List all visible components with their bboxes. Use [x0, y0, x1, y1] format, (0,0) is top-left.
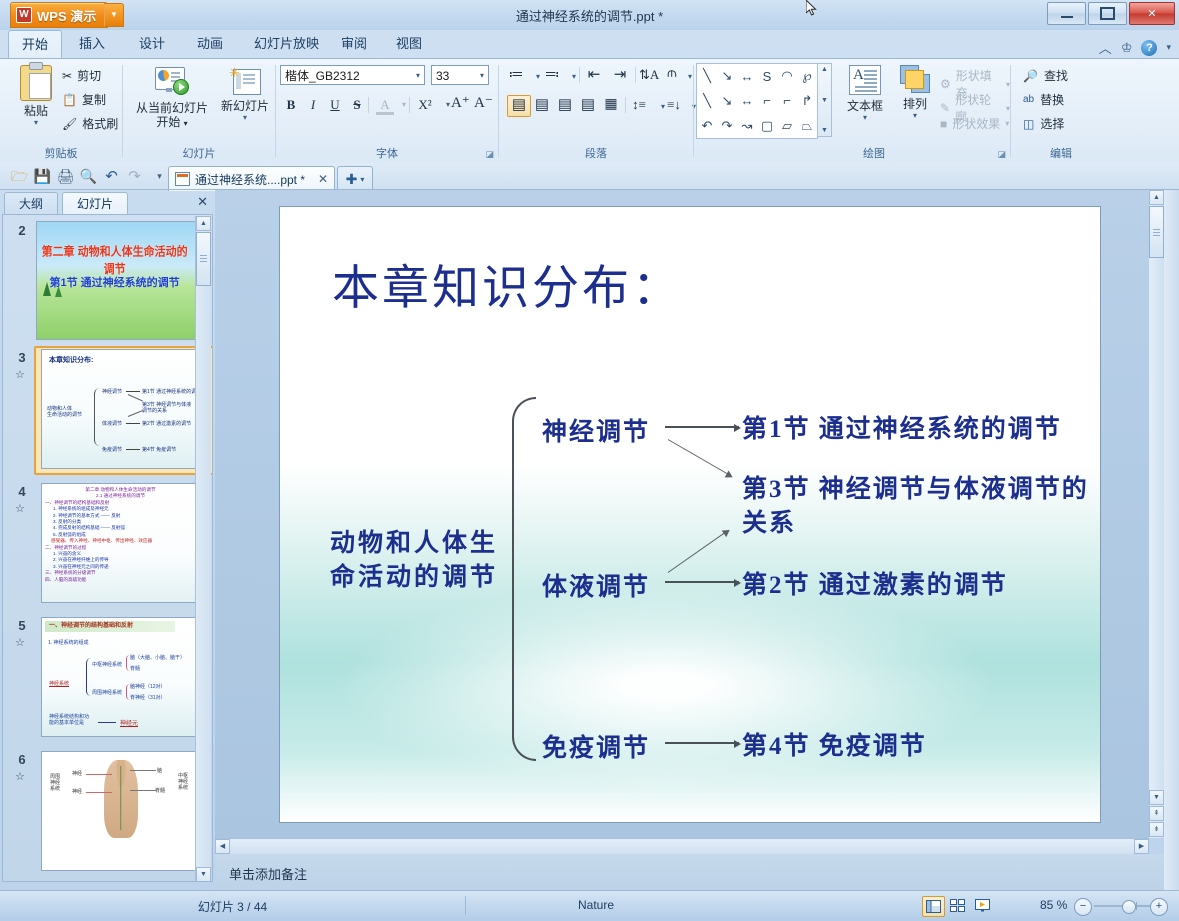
- undo-icon[interactable]: ↶: [102, 167, 121, 186]
- shape-gallery[interactable]: ╲ ↘ ↔ S ◠ ℘ ╲ ↘ ↔ ⌐ ⌐ ↱ ↶ ↷ ↝ ▢ ▱: [696, 63, 818, 139]
- redo-icon[interactable]: ↷: [125, 167, 144, 186]
- qat-more-icon[interactable]: ▾: [150, 167, 169, 186]
- thumbnail-image[interactable]: 一、神经调节的结构基础和反射 1. 神经系统的组成 神经系统 中枢神经系统 周围…: [41, 617, 200, 737]
- start-from-current-label2: 开始 ▾: [129, 115, 215, 131]
- shape-curved-arrow-icon[interactable]: ↝: [737, 113, 757, 138]
- ribbon: 粘贴 ▾ ✂ 剪切 📋 复制 🖌 格式刷 剪贴板: [0, 58, 1179, 165]
- zoom-tick: [1136, 902, 1137, 910]
- tab-outline[interactable]: 大纲: [4, 192, 58, 215]
- slide-vertical-scrollbar[interactable]: ▲ ▼ ⇞ ⇟: [1149, 190, 1164, 838]
- textbox-icon: A: [849, 65, 881, 95]
- arrange-label: 排列: [892, 97, 938, 111]
- shape-double-arrow2-icon[interactable]: ↔: [737, 89, 757, 114]
- slide-thumbnail-6[interactable]: 6 ☆ 神经 神经 周围神经系统 脑 脊髓: [9, 750, 209, 872]
- arrange-icon: [900, 65, 930, 93]
- scroll-down-button[interactable]: ▼: [196, 867, 211, 882]
- scrollbar-thumb[interactable]: [196, 232, 211, 286]
- slide-horizontal-scrollbar[interactable]: ◀ ▶: [215, 838, 1149, 855]
- select-pointer-icon: ◫: [1023, 117, 1034, 131]
- align-center-button[interactable]: ▤: [533, 95, 551, 115]
- thumb2-line2: 第1节 通过神经系统的调节: [41, 274, 188, 290]
- print-preview-icon[interactable]: 🔍: [79, 167, 98, 186]
- font-name-input[interactable]: 楷体_GB2312 ▾: [280, 65, 425, 85]
- ribbon-tab-view[interactable]: 视图: [385, 30, 433, 58]
- divider: [368, 97, 369, 113]
- ribbon-group-paragraph: ≔ ▾ ≕ ▾ ⇤ ⇥ ⇅A ⫙ ▾ ▤ ▤ ▤ ▤ ▦ ↕≡ ▾ ≡↓: [499, 59, 693, 163]
- slide-scroll-up-button[interactable]: ▲: [1149, 190, 1164, 205]
- shape-arrow-icon[interactable]: ↘: [717, 64, 737, 89]
- divider: [635, 67, 636, 83]
- t5-mid-2: 周围神经系统: [92, 689, 122, 696]
- text-direction-button[interactable]: ⇅A: [639, 65, 659, 85]
- open-icon[interactable]: 🗁: [10, 167, 29, 186]
- slide-sorter-icon: [950, 899, 965, 912]
- t5-left-label: 神经系统: [49, 680, 69, 687]
- thumbnail-number: 2: [9, 223, 35, 238]
- t6-label-brain: 脑: [157, 767, 162, 774]
- t6-label-left1: 神经: [72, 770, 82, 777]
- status-bar: 幻灯片 3 / 44 Nature 85 %: [0, 890, 1179, 921]
- shape-scroll-up-icon[interactable]: ▲: [821, 66, 828, 73]
- replace-ab-icon: ab: [1023, 94, 1034, 105]
- start-from-current-slide-button[interactable]: 从当前幻灯片 开始 ▾: [129, 67, 215, 131]
- shrink-font-button[interactable]: A⁻: [474, 93, 493, 113]
- shape-elbow2-icon[interactable]: ⌐: [777, 89, 797, 114]
- shape-curved-conn-icon[interactable]: ↶: [697, 113, 717, 138]
- replace-label: 替换: [1040, 91, 1064, 108]
- shape-effects-label: 形状效果: [952, 115, 1000, 132]
- animation-star-icon: ☆: [15, 636, 25, 649]
- animation-star-icon: ☆: [15, 368, 25, 381]
- grow-font-button[interactable]: A⁺: [451, 93, 470, 113]
- slides-pane: 大纲 幻灯片 ✕ 2 第二章 动物和人体生命活动的调节 第1节 通过神经系统的调…: [0, 190, 215, 890]
- outline-slide-preview: 第二章 动物和人体生命活动的调节 2.1 通过神经系统的调节 一、神经调节的结构…: [42, 484, 199, 602]
- copy-button[interactable]: 📋 复制: [62, 91, 106, 108]
- shape-line-icon[interactable]: ╲: [697, 64, 717, 89]
- view-slideshow-button[interactable]: [972, 896, 993, 915]
- group-label-drawing: 绘图: [814, 145, 934, 161]
- strikethrough-button[interactable]: S: [348, 95, 366, 115]
- shape-double-arrow-icon[interactable]: ↔: [737, 64, 757, 89]
- clipboard-icon: [20, 65, 52, 101]
- arrange-button[interactable]: 排列 ▾: [892, 65, 938, 120]
- start-from-current-label: 从当前幻灯片: [129, 101, 215, 115]
- thumb3-branch-3: 免疫调节: [102, 446, 122, 453]
- slides-pane-tabs: 大纲 幻灯片 ✕: [0, 190, 215, 214]
- scissors-icon: ✂: [62, 69, 72, 83]
- thumbnail-image[interactable]: 神经 神经 周围神经系统 脑 脊髓 中枢神经系统: [41, 751, 200, 871]
- shape-elbow-icon[interactable]: ⌐: [757, 89, 777, 114]
- slide-title-text[interactable]: 本章知识分布：: [332, 249, 682, 318]
- divider: [579, 67, 580, 83]
- superscript-button[interactable]: X²: [416, 95, 434, 115]
- slide-thumbnail-3[interactable]: 3 ☆ 本章知识分布: 动物和人体生命活动的调节 神经调节 第1节 通过神经系统…: [9, 348, 209, 470]
- align-text-button[interactable]: ⫙: [663, 64, 681, 84]
- divider: [625, 97, 626, 113]
- previous-slide-button[interactable]: ⇞: [1149, 806, 1164, 821]
- document-tab-label: 通过神经系统....ppt *: [195, 171, 305, 188]
- thumbnail-number: 5: [9, 618, 35, 633]
- select-button[interactable]: ◫ 选择: [1023, 115, 1064, 132]
- wps-presentation-window: W WPS 演示 ▼ 通过神经系统的调节.ppt * ✕ ︿ ♔ ? ▾ 开始 …: [0, 0, 1179, 920]
- t6-connector: [130, 790, 156, 791]
- thumb3-arrow-2: [126, 423, 140, 424]
- paste-caret-icon: ▾: [10, 118, 62, 127]
- presentation-file-icon: [175, 172, 190, 186]
- new-slide-icon: ✳: [229, 67, 261, 95]
- document-tab[interactable]: 通过神经系统....ppt * ✕: [168, 166, 335, 191]
- window-vertical-scrollbar[interactable]: [1164, 190, 1179, 890]
- group-label-slides: 幻灯片: [123, 145, 275, 161]
- window-controls: ✕: [1047, 2, 1175, 25]
- shape-parallelogram-icon[interactable]: ▱: [777, 113, 797, 138]
- slide-counter: 幻灯片 3 / 44: [0, 898, 465, 915]
- ribbon-group-slides: 从当前幻灯片 开始 ▾ ✳ 新幻灯片 ▾ 幻灯片: [123, 59, 275, 163]
- maximize-button[interactable]: [1088, 2, 1127, 25]
- root-line1: 动物和人体生: [330, 530, 498, 557]
- ribbon-tab-design[interactable]: 设计: [128, 30, 176, 58]
- window-title: 通过神经系统的调节.ppt *: [0, 6, 1179, 25]
- t5-bottom-right: 神经元: [120, 718, 138, 727]
- ribbon-tab-home[interactable]: 开始: [8, 30, 62, 59]
- thumbnail-image[interactable]: 本章知识分布: 动物和人体生命活动的调节 神经调节 第1节 通过神经系统的调节 …: [41, 349, 200, 469]
- hscroll-right-button[interactable]: ▶: [1134, 839, 1149, 854]
- effects-square-icon: ■: [940, 117, 947, 131]
- shape-rectangle-icon[interactable]: ▢: [757, 113, 777, 138]
- ribbon-group-drawing: ╲ ↘ ↔ S ◠ ℘ ╲ ↘ ↔ ⌐ ⌐ ↱ ↶ ↷ ↝ ▢ ▱: [694, 59, 1010, 163]
- ribbon-tab-animation[interactable]: 动画: [186, 30, 234, 58]
- font-name-caret-icon[interactable]: ▾: [416, 66, 420, 85]
- arrange-caret-icon: ▾: [892, 111, 938, 120]
- font-dialog-launcher[interactable]: ◪: [485, 149, 494, 160]
- new-slide-caret-icon: ▾: [219, 113, 271, 122]
- thumbnail-number: 6: [9, 752, 35, 767]
- font-color-caret-icon[interactable]: ▾: [395, 95, 413, 115]
- animation-star-icon: ☆: [15, 502, 25, 515]
- t5-sub: 1. 神经系统的组成: [48, 639, 89, 646]
- shape-elbow-arrow-icon[interactable]: ↱: [797, 89, 817, 114]
- ribbon-tab-slideshow[interactable]: 幻灯片放映: [243, 30, 330, 58]
- thumb3-branch-2: 体液调节: [102, 420, 122, 427]
- arrow-branch-1: [665, 426, 739, 428]
- tab-slides[interactable]: 幻灯片: [62, 192, 128, 215]
- justify-button[interactable]: ▤: [579, 95, 597, 115]
- zoom-out-button[interactable]: −: [1074, 898, 1092, 916]
- decrease-indent-button[interactable]: ⇤: [585, 65, 603, 85]
- t4-l14: 四、人脑的高级功能: [45, 577, 196, 583]
- arrow-branch-3: [665, 742, 739, 744]
- distribute-button[interactable]: ▦: [602, 95, 620, 115]
- paste-button[interactable]: 粘贴 ▾: [10, 65, 62, 127]
- target-node-3b[interactable]: 关系: [742, 503, 796, 539]
- branch-node-2[interactable]: 体液调节: [542, 567, 650, 603]
- ribbon-tab-bar: 开始 插入 设计 动画 幻灯片放映 审阅 视图: [0, 30, 1179, 58]
- view-normal-button[interactable]: [922, 896, 945, 917]
- ribbon-group-clipboard: 粘贴 ▾ ✂ 剪切 📋 复制 🖌 格式刷 剪贴板: [0, 59, 122, 163]
- root-node[interactable]: 动物和人体生 命活动的调节: [330, 527, 498, 595]
- align-right-button[interactable]: ▤: [556, 95, 574, 115]
- align-left-button[interactable]: ▤: [507, 95, 531, 117]
- theme-name: Nature: [466, 898, 726, 912]
- font-size-value: 33: [436, 69, 449, 83]
- thumb3-brace: [94, 388, 100, 446]
- t6-label-spinal: 脊髓: [155, 787, 165, 794]
- thumb3-title: 本章知识分布:: [49, 355, 93, 365]
- next-slide-button[interactable]: ⇟: [1149, 822, 1164, 837]
- shape-gallery-more-icon[interactable]: ▼: [821, 127, 828, 134]
- paste-label: 粘贴: [10, 104, 62, 118]
- t5-bottom-left: 神经系统结构和功能的基本单位是: [49, 714, 93, 726]
- t6-label-left2: 神经: [72, 788, 82, 795]
- cut-label: 剪切: [77, 67, 101, 84]
- zoom-in-button[interactable]: +: [1150, 898, 1168, 916]
- slide-editing-stage: 本章知识分布： 动物和人体生 命活动的调节 神经调节 第1节 通过神经系统的调节…: [215, 190, 1164, 838]
- new-tab-plus-icon: ✚: [346, 171, 358, 188]
- thumb3-arrow-3: [126, 449, 140, 450]
- print-icon[interactable]: 🖨: [56, 167, 75, 186]
- pencil-outline-icon: ✎: [940, 101, 950, 115]
- slide-thumbnail-5[interactable]: 5 ☆ 一、神经调节的结构基础和反射 1. 神经系统的组成 神经系统 中枢神经系…: [9, 616, 209, 738]
- copy-label: 复制: [82, 91, 106, 108]
- arrow-branch-2: [665, 581, 739, 583]
- binoculars-icon: 🔎: [1023, 69, 1038, 83]
- thumb3-branch-1: 神经调节: [102, 388, 122, 395]
- shape-gallery-scrollbar[interactable]: ▲ ▼ ▼: [817, 63, 832, 137]
- paragraph-spacing-button[interactable]: ≡↓: [665, 95, 683, 115]
- current-slide[interactable]: 本章知识分布： 动物和人体生 命活动的调节 神经调节 第1节 通过神经系统的调节…: [280, 207, 1100, 822]
- target-node-4[interactable]: 第4节 免疫调节: [742, 726, 927, 762]
- slideshow-icon: [155, 67, 189, 97]
- minimize-button[interactable]: [1047, 2, 1086, 25]
- zoom-slider-handle[interactable]: [1122, 900, 1136, 914]
- mouse-cursor: [806, 0, 818, 18]
- group-label-font: 字体: [276, 145, 498, 161]
- knowledge-map-preview: 本章知识分布: 动物和人体生命活动的调节 神经调节 第1节 通过神经系统的调节 …: [42, 350, 199, 468]
- t6-connector: [130, 770, 156, 771]
- textbox-label: 文本框: [840, 99, 890, 113]
- t5-connector: [98, 722, 116, 723]
- shape-curve-icon[interactable]: S: [757, 64, 777, 89]
- t5-header: 一、神经调节的结构基础和反射: [45, 621, 175, 632]
- slide-scrollbar-thumb[interactable]: [1149, 206, 1164, 258]
- t6-connector: [86, 792, 112, 793]
- zoom-level-label: 85 %: [1040, 898, 1067, 912]
- shape-effects-caret-icon[interactable]: ▾: [1005, 119, 1009, 128]
- copy-icon: 📋: [62, 93, 77, 107]
- ribbon-group-editing: 🔎 查找 ab 替换 ◫ 选择 编辑: [1011, 59, 1111, 163]
- thumb3-diagonal: [128, 394, 143, 401]
- thumbnail-number: 4: [9, 484, 35, 499]
- slide-background-ripple: [280, 465, 1100, 822]
- ribbon-tab-insert[interactable]: 插入: [68, 30, 116, 58]
- notes-pane[interactable]: 单击添加备注: [215, 854, 1164, 890]
- ribbon-group-font: 楷体_GB2312 ▾ 33 ▾ B I U S A ▾ X² ▾ A⁺ A⁻: [276, 59, 498, 163]
- new-tab-caret-icon: ▾: [360, 175, 364, 184]
- view-slide-sorter-button[interactable]: [947, 896, 968, 915]
- drawing-dialog-launcher[interactable]: ◪: [997, 149, 1006, 160]
- normal-view-icon: [926, 900, 941, 913]
- bullets-button[interactable]: ≔: [507, 65, 525, 85]
- font-size-input[interactable]: 33 ▾: [431, 65, 489, 85]
- divider: [409, 97, 410, 113]
- target-node-1[interactable]: 第1节 通过神经系统的调节: [742, 409, 1062, 445]
- t5-right-2: 脊髓: [130, 665, 140, 672]
- t6-label-group-right: 中枢神经系统: [178, 773, 188, 791]
- shape-trapezoid-icon[interactable]: ⏢: [797, 113, 817, 138]
- thumb2-line1: 第二章 动物和人体生命活动的调节: [41, 242, 188, 277]
- scroll-up-button[interactable]: ▲: [196, 216, 211, 231]
- thumb3-target-1: 第1节 通过神经系统的调节: [142, 388, 200, 395]
- branch-node-3[interactable]: 免疫调节: [542, 728, 650, 764]
- structure-diagram-preview: 一、神经调节的结构基础和反射 1. 神经系统的组成 神经系统 中枢神经系统 周围…: [42, 618, 199, 736]
- spine-icon: [120, 766, 122, 830]
- italic-button[interactable]: I: [304, 95, 322, 115]
- anatomy-slide-preview: 神经 神经 周围神经系统 脑 脊髓 中枢神经系统: [42, 752, 199, 870]
- new-slide-button[interactable]: ✳ 新幻灯片 ▾: [219, 67, 271, 122]
- numbering-button[interactable]: ≕: [543, 65, 561, 85]
- new-slide-label: 新幻灯片: [219, 99, 271, 113]
- slides-pane-body: 2 第二章 动物和人体生命活动的调节 第1节 通过神经系统的调节 3 ☆: [2, 214, 213, 882]
- font-color-button[interactable]: A: [376, 95, 394, 115]
- thumb3-target-2: 第3节 神经调节与体液调节的关系: [142, 402, 194, 414]
- paintbrush-icon: 🖌: [62, 117, 77, 131]
- find-button[interactable]: 🔎 查找: [1023, 67, 1068, 84]
- cut-button[interactable]: ✂ 剪切: [62, 67, 101, 84]
- fill-bucket-icon: ⚙: [940, 77, 951, 91]
- select-label: 选择: [1040, 115, 1064, 132]
- shape-line-dot-icon[interactable]: ╲: [697, 89, 717, 114]
- t5-right-1: 脑（大脑、小脑、脑干）: [130, 654, 185, 661]
- t5-mid-1: 中枢神经系统: [92, 661, 122, 668]
- t5-brace: [86, 658, 91, 696]
- shape-scribble-icon[interactable]: ℘: [797, 64, 817, 89]
- group-label-clipboard: 剪贴板: [0, 145, 122, 161]
- title-slide-preview: 第二章 动物和人体生命活动的调节 第1节 通过神经系统的调节: [37, 222, 197, 339]
- slide-scroll-down-button[interactable]: ▼: [1149, 790, 1164, 805]
- thumb3-target-4: 第4节 免疫调节: [142, 446, 176, 453]
- t5-right-3: 脑神经（12对）: [130, 683, 166, 690]
- numbering-caret-icon[interactable]: ▾: [565, 67, 583, 87]
- shape-curved-conn2-icon[interactable]: ↷: [717, 113, 737, 138]
- thumb3-arrow-1: [126, 391, 140, 392]
- document-tab-close-icon[interactable]: ✕: [318, 172, 328, 186]
- thumbnail-image[interactable]: 第二章 动物和人体生命活动的调节 第1节 通过神经系统的调节: [36, 221, 198, 340]
- font-name-value: 楷体_GB2312: [285, 69, 360, 83]
- line-spacing-button[interactable]: ↕≡: [630, 95, 648, 115]
- thumb3-diagonal: [128, 410, 143, 417]
- t6-connector: [86, 774, 112, 775]
- thumb3-root: 动物和人体生命活动的调节: [47, 406, 82, 418]
- find-label: 查找: [1044, 67, 1068, 84]
- font-size-caret-icon[interactable]: ▾: [480, 66, 484, 85]
- slides-pane-close-icon[interactable]: ✕: [197, 194, 208, 210]
- format-painter-button[interactable]: 🖌 格式刷: [62, 115, 118, 132]
- hscroll-left-button[interactable]: ◀: [215, 839, 230, 854]
- root-line2: 命活动的调节: [330, 564, 498, 591]
- shape-scroll-down-icon[interactable]: ▼: [821, 97, 828, 104]
- shape-effects-button[interactable]: ■ 形状效果 ▾: [940, 115, 1009, 132]
- format-painter-label: 格式刷: [82, 115, 118, 132]
- t6-label-group-left: 周围神经系统: [50, 774, 60, 792]
- group-label-editing: 编辑: [1011, 145, 1111, 161]
- branch-node-1[interactable]: 神经调节: [542, 412, 650, 448]
- slide-thumbnail-4[interactable]: 4 ☆ 第二章 动物和人体生命活动的调节 2.1 通过神经系统的调节 一、神经调…: [9, 482, 209, 604]
- t5-right-4: 脊神经（31对）: [130, 694, 166, 701]
- root-brace: [512, 397, 536, 761]
- shape-freeform-icon[interactable]: ◠: [777, 64, 797, 89]
- textbox-button[interactable]: A 文本框 ▾: [840, 65, 890, 122]
- notes-placeholder: 单击添加备注: [229, 864, 307, 883]
- close-button[interactable]: ✕: [1129, 2, 1175, 25]
- slides-pane-scrollbar[interactable]: ▲ ▼: [195, 216, 211, 882]
- textbox-caret-icon: ▾: [840, 113, 890, 122]
- slideshow-play-icon: [975, 899, 990, 912]
- group-label-paragraph: 段落: [499, 145, 693, 161]
- title-bar: W WPS 演示 ▼ 通过神经系统的调节.ppt * ✕ ︿ ♔ ? ▾: [0, 0, 1179, 30]
- target-node-2[interactable]: 第2节 通过激素的调节: [742, 565, 1008, 601]
- ribbon-tab-review[interactable]: 审阅: [330, 30, 378, 58]
- slide-thumbnail-2[interactable]: 2 第二章 动物和人体生命活动的调节 第1节 通过神经系统的调节: [9, 221, 209, 341]
- replace-button[interactable]: ab 替换: [1023, 91, 1064, 108]
- underline-button[interactable]: U: [326, 95, 344, 115]
- increase-indent-button[interactable]: ⇥: [611, 65, 629, 85]
- target-node-3a[interactable]: 第3节 神经调节与体液调节的: [742, 469, 1089, 505]
- thumbnail-number: 3: [9, 350, 35, 365]
- animation-star-icon: ☆: [15, 770, 25, 783]
- thumb3-target-3: 第2节 通过激素的调节: [142, 420, 191, 427]
- bold-button[interactable]: B: [282, 95, 300, 115]
- quick-access-toolbar: 🗁 💾 🖨 🔍 ↶ ↷ ▾ 通过神经系统....ppt * ✕ ✚ ▾: [0, 163, 1179, 190]
- shape-arrow2-icon[interactable]: ↘: [717, 89, 737, 114]
- save-icon[interactable]: 💾: [33, 167, 52, 186]
- thumbnail-image[interactable]: 第二章 动物和人体生命活动的调节 2.1 通过神经系统的调节 一、神经调节的结构…: [41, 483, 200, 603]
